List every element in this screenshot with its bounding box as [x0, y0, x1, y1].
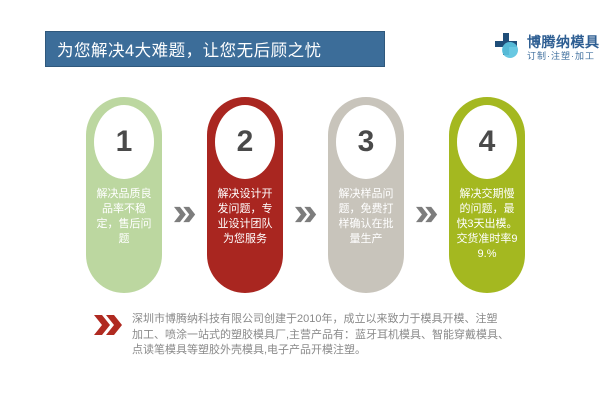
step-arrow-2: [283, 206, 328, 223]
step-number: 2: [237, 127, 254, 157]
circle-accent-icon: [502, 42, 518, 58]
footer-arrow: [86, 306, 132, 336]
company-intro-text: 深圳市博腾纳科技有限公司创建于2010年，成立以来致力于模具开模、注塑 加工、喷…: [132, 306, 500, 359]
step-description: 解决设计开发问题，专业设计团队为您服务: [213, 187, 277, 247]
company-intro-line-1: 深圳市博腾纳科技有限公司创建于2010年，成立以来致力于模具开模、注塑: [132, 312, 500, 328]
step-description: 解决样品问题，免费打样确认在批量生产: [334, 187, 398, 247]
logo-slogan: 订制·注塑·加工: [527, 52, 600, 61]
logo-text-block: 博腾纳模具 订制·注塑·加工: [527, 35, 600, 61]
page-title: 为您解决4大难题，让您无后顾之忧: [46, 37, 322, 61]
step-number-circle: 3: [336, 105, 396, 179]
double-chevron-right-icon: [416, 206, 438, 223]
step-arrow-1: [162, 206, 207, 223]
step-description: 解决品质良品率不稳定，售后问题: [92, 187, 156, 247]
step-number: 3: [358, 127, 375, 157]
step-number-circle: 2: [215, 105, 275, 179]
step-number-circle: 1: [94, 105, 154, 179]
page-header: 为您解决4大难题，让您无后顾之忧 博腾纳模具 订制·注塑·加工: [0, 0, 600, 84]
logo-name: 博腾纳模具: [527, 35, 600, 49]
step-number: 1: [116, 127, 133, 157]
logo-mark: [495, 31, 525, 65]
double-chevron-right-icon: [295, 206, 317, 223]
brand-logo: 博腾纳模具 订制·注塑·加工: [495, 28, 595, 68]
double-chevron-right-icon: [174, 206, 196, 223]
step-number-circle: 4: [457, 105, 517, 179]
step-pill-3: 3 解决样品问题，免费打样确认在批量生产: [328, 97, 404, 293]
step-pill-1: 1 解决品质良品率不稳定，售后问题: [86, 97, 162, 293]
steps-row: 1 解决品质良品率不稳定，售后问题 2 解决设计开发问题，专业设计团队为您服务 …: [86, 97, 526, 293]
company-intro-line-3: 点读笔模具等塑胶外壳模具,电子产品开模注塑。: [132, 343, 500, 359]
step-pill-2: 2 解决设计开发问题，专业设计团队为您服务: [207, 97, 283, 293]
company-intro: 深圳市博腾纳科技有限公司创建于2010年，成立以来致力于模具开模、注塑 加工、喷…: [86, 306, 526, 378]
step-pill-4: 4 解决交期慢的问题，最快3天出模。交货准时率99.%: [449, 97, 525, 293]
double-chevron-right-icon: [94, 314, 124, 336]
step-number: 4: [479, 127, 496, 157]
step-description: 解决交期慢的问题，最快3天出模。交货准时率99.%: [455, 187, 519, 262]
company-intro-line-2: 加工、喷涂一站式的塑胶模具厂,主营产品有：蓝牙耳机模具、智能穿戴模具、: [132, 328, 500, 344]
step-arrow-3: [404, 206, 449, 223]
title-banner: 为您解决4大难题，让您无后顾之忧: [45, 31, 385, 67]
